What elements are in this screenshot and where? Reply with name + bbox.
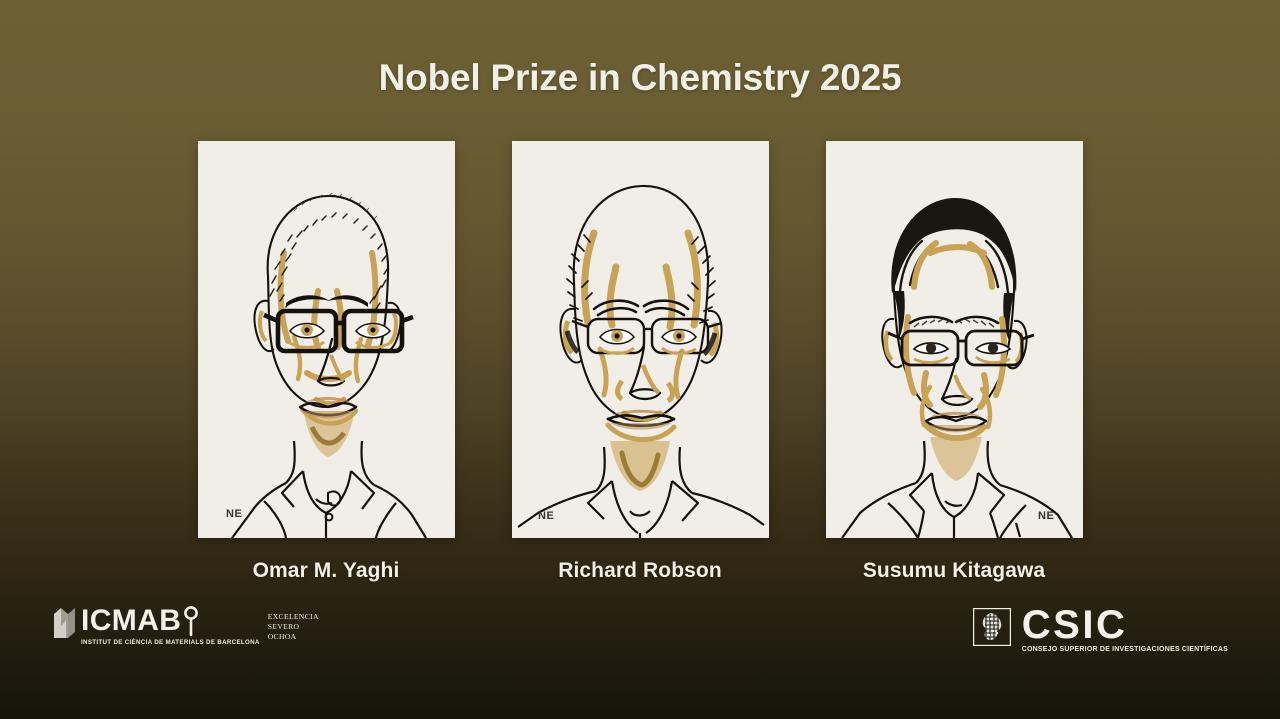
severo-line-2: SEVERO — [268, 622, 319, 632]
laureate-card: NE Susumu Kitagawa — [826, 141, 1083, 583]
csic-emblem-icon — [973, 608, 1011, 646]
artist-signature: NE — [538, 510, 554, 522]
csic-logo[interactable]: CSIC CONSEJO SUPERIOR DE INVESTIGACIONES… — [973, 606, 1228, 653]
artist-signature: NE — [226, 508, 242, 520]
icmab-mark-icon — [52, 606, 80, 640]
icmab-tagline: INSTITUT DE CIÈNCIA DE MATERIALS DE BARC… — [81, 639, 260, 646]
icmab-logo[interactable]: ICMAB INSTITUT DE CIÈNCIA DE MATERIALS D… — [52, 606, 319, 646]
portrait-susumu-kitagawa: NE — [826, 141, 1083, 538]
severo-ochoa-badge: EXCELENCIA SEVERO OCHOA — [268, 612, 319, 642]
csic-tagline: CONSEJO SUPERIOR DE INVESTIGACIONES CIEN… — [1022, 646, 1228, 653]
severo-line-3: OCHOA — [268, 632, 319, 642]
icmab-wordmark: ICMAB — [81, 606, 181, 636]
artist-signature: NE — [1038, 510, 1054, 522]
laureate-name: Omar M. Yaghi — [198, 559, 455, 583]
csic-wordmark: CSIC — [1022, 606, 1228, 644]
laureate-card: NE Richard Robson — [512, 141, 769, 583]
severo-line-1: EXCELENCIA — [268, 612, 319, 622]
portrait-omar-m-yaghi: NE — [198, 141, 455, 538]
page-title: Nobel Prize in Chemistry 2025 — [0, 57, 1280, 99]
laureate-card: NE Omar M. Yaghi — [198, 141, 455, 583]
icmab-pin-icon — [182, 606, 199, 636]
laureate-name: Susumu Kitagawa — [826, 559, 1083, 583]
portrait-richard-robson: NE — [512, 141, 769, 538]
laureate-gallery: NE Omar M. Yaghi — [0, 141, 1280, 583]
laureate-name: Richard Robson — [512, 559, 769, 583]
